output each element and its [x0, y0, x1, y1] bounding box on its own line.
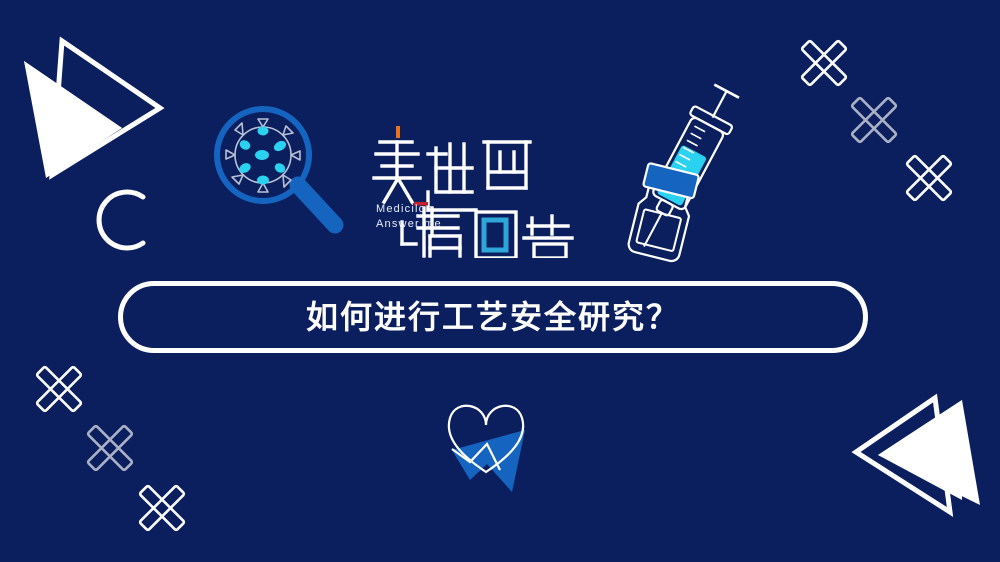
- logo-english-lockup: Medicilon Answer me: [376, 202, 442, 232]
- title-pill: 如何进行工艺安全研究？: [118, 281, 868, 353]
- magnifier-with-virus-icon: [217, 109, 335, 225]
- double-triangle-bottom-right: [856, 398, 980, 512]
- logo-chinese-wordmark: [372, 118, 582, 258]
- medicine-vial-icon: [627, 163, 699, 263]
- logo-english-line2: Answer me: [376, 217, 442, 232]
- medicilon-logo: Medicilon Answer me: [372, 118, 582, 258]
- logo-english-line1: Medicilon: [376, 202, 442, 217]
- banner-canvas: Medicilon Answer me 如何进行工艺安全研究？: [0, 0, 1000, 562]
- page-title: 如何进行工艺安全研究？: [306, 301, 680, 333]
- cross-marks-right: [787, 26, 966, 215]
- cross-marks-left: [22, 352, 199, 545]
- double-triangle-top-left: [24, 41, 160, 178]
- c-arc-icon: [99, 192, 143, 248]
- logo-cyan-square: [484, 220, 506, 250]
- heart-outline-icon: [449, 406, 525, 492]
- virus-glyph: [226, 119, 300, 192]
- logo-orange-accent: [396, 126, 400, 138]
